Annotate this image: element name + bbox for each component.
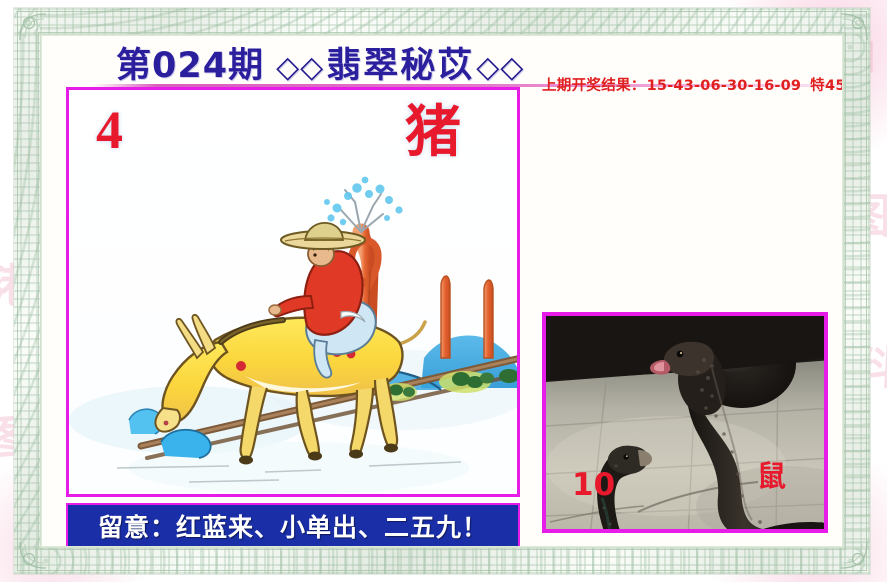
main-panel-number: 4 [96, 103, 123, 157]
result-label: 上期开奖结果： [542, 78, 646, 94]
issue-number: 第024期 [116, 46, 264, 86]
photo-panel[interactable]: 10 鼠 [542, 312, 828, 533]
photo-panel-zodiac: 鼠 [757, 462, 786, 491]
main-picture-panel[interactable]: 4 猪 [66, 87, 520, 497]
main-panel-zodiac: 猪 [405, 105, 461, 161]
result-numbers: 15-43-06-30-16-09 [647, 78, 802, 94]
page-canvas: 港彩 图库 彩图 资料 图 第024期◇◇翡翠秘苡◇◇ [0, 0, 887, 582]
diamond-left-icon: ◇◇ [274, 50, 326, 85]
result-special: 特45 [810, 78, 842, 94]
previous-draw-result: 上期开奖结果：15-43-06-30-16-09特45 [542, 74, 842, 95]
page-title: 第024期◇◇翡翠秘苡◇◇ [116, 37, 526, 88]
snake-photo: 10 鼠 [546, 316, 824, 529]
title-text: 翡翠秘苡 [326, 46, 474, 86]
photo-panel-number: 10 [572, 470, 615, 501]
illustration: 4 猪 [69, 90, 517, 494]
content-surface: 第024期◇◇翡翠秘苡◇◇ 上期开奖结果：15-43-06-30-16-09特4… [42, 36, 842, 546]
caption-text: 留意：红蓝来、小单出、二五九！ [98, 508, 488, 544]
caption-bar: 留意：红蓝来、小单出、二五九！ [66, 503, 520, 546]
diamond-right-icon: ◇◇ [474, 50, 526, 85]
